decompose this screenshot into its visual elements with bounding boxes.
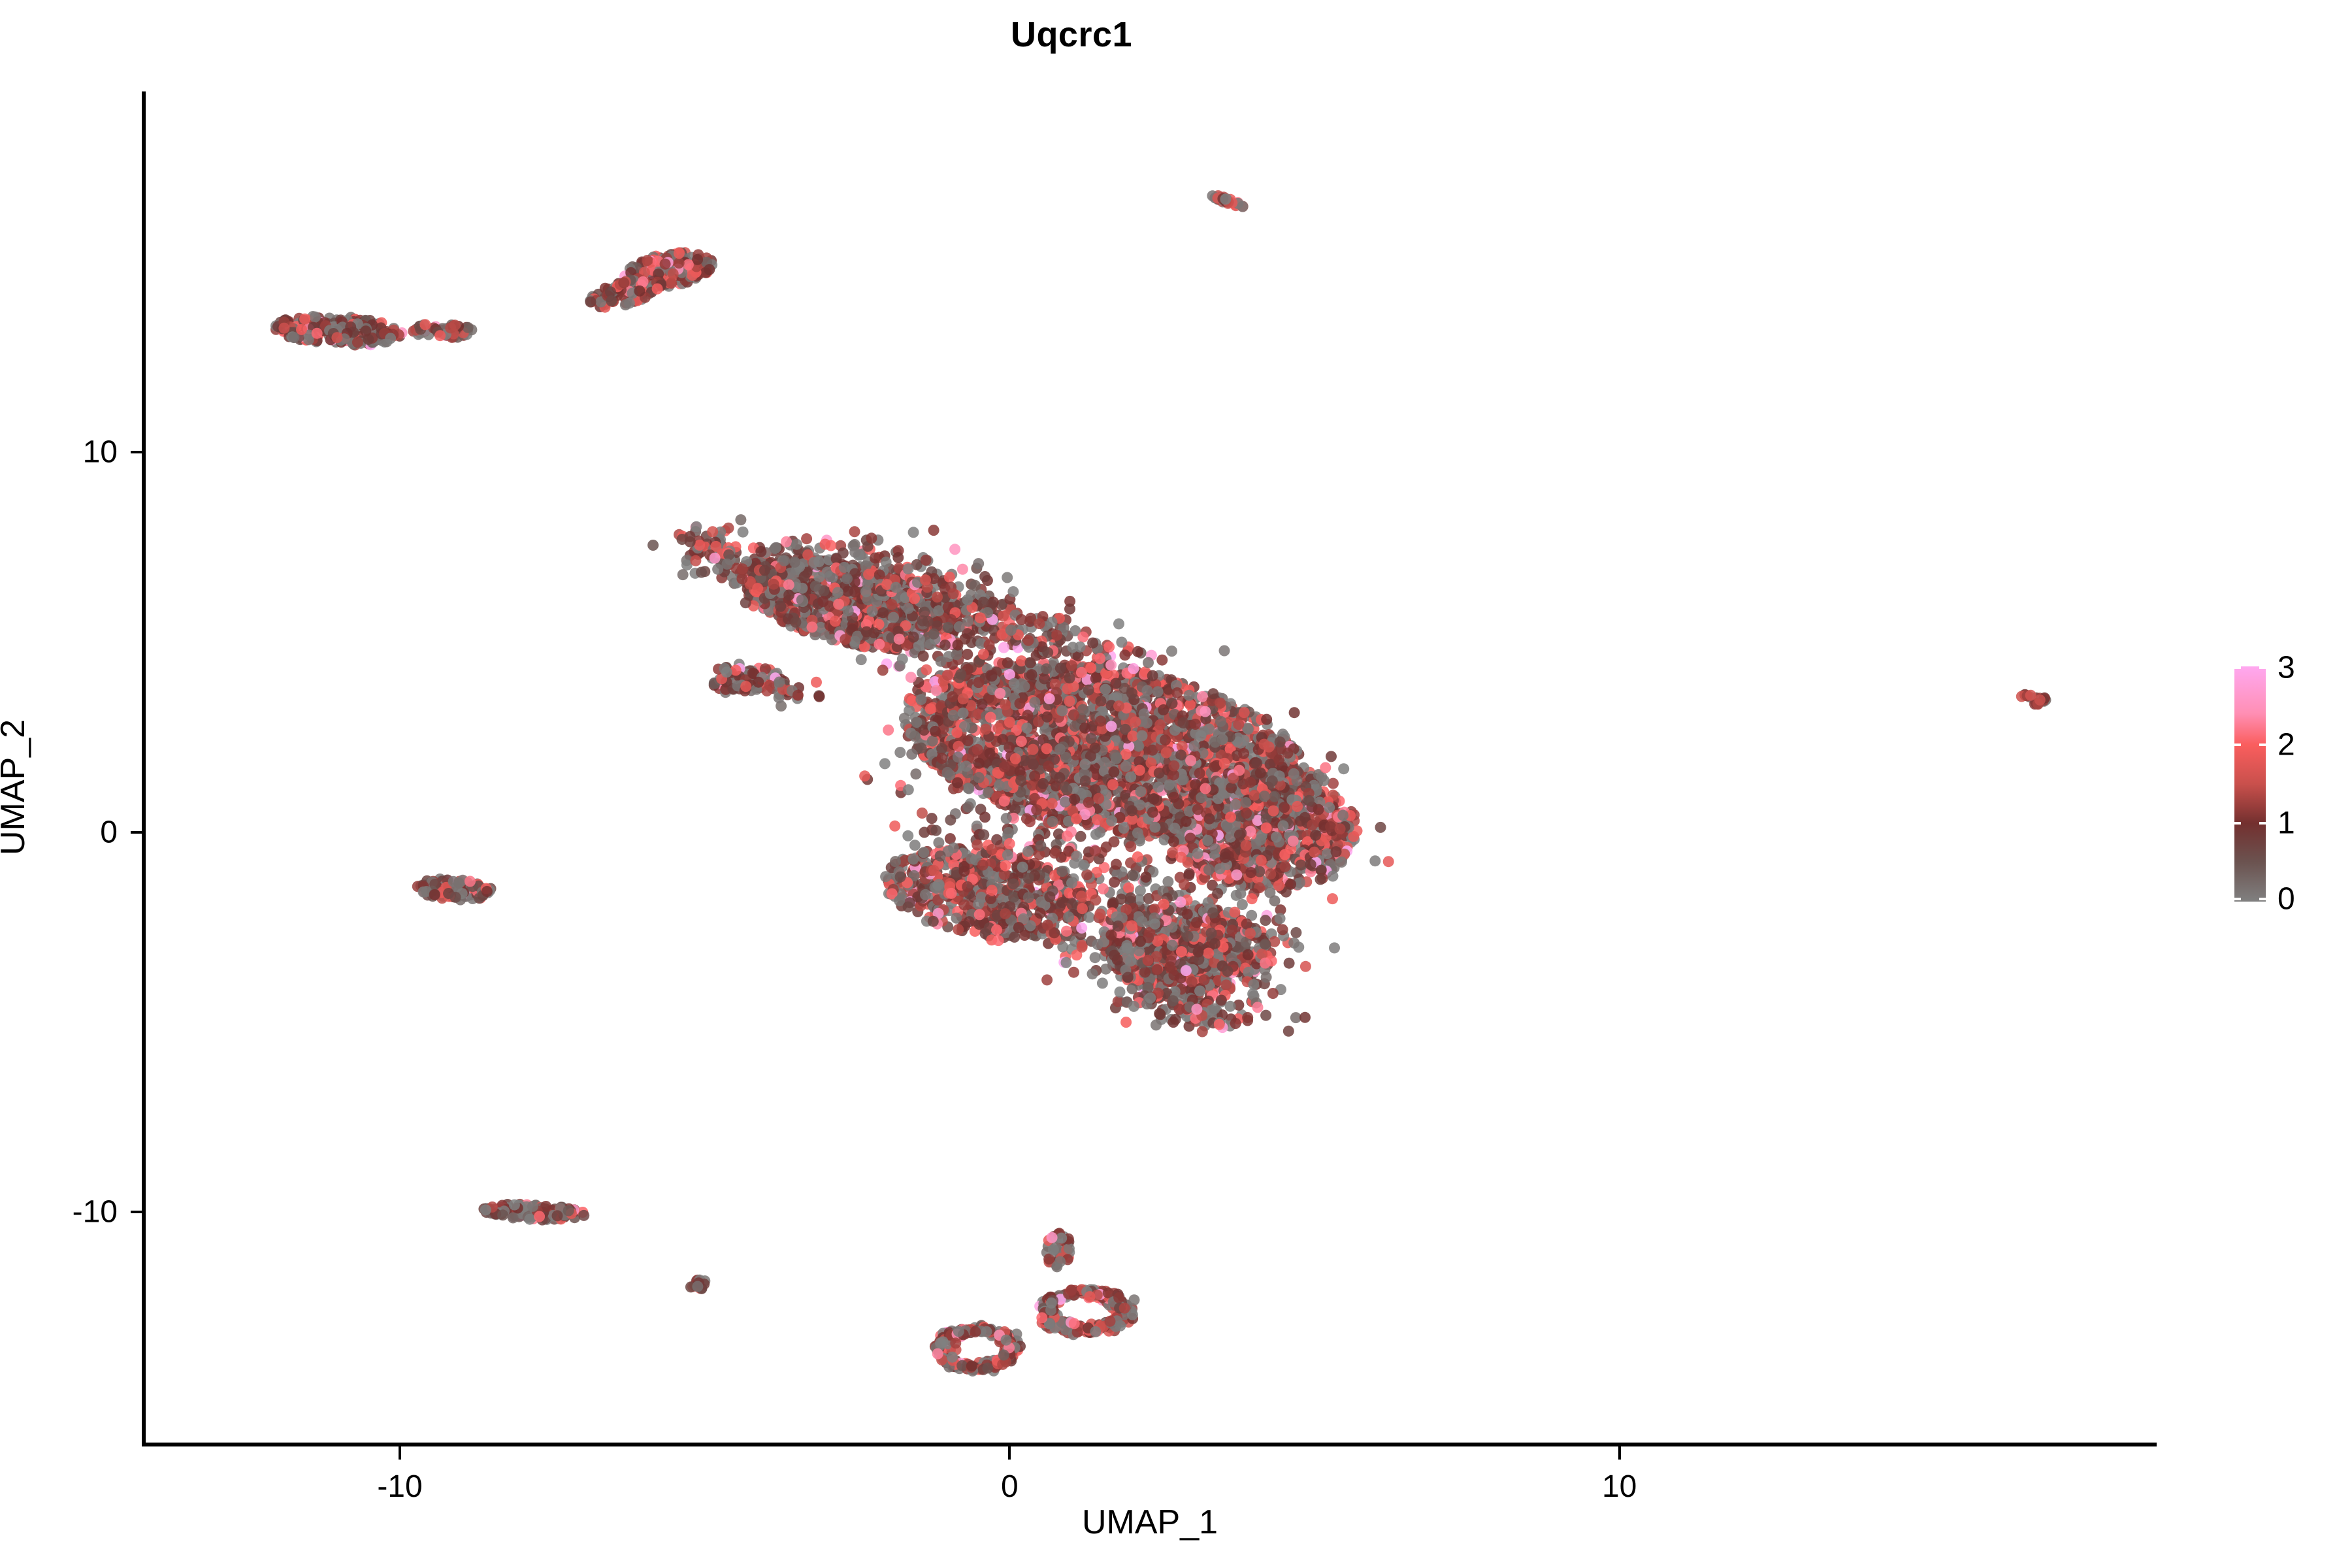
scatter-points-layer xyxy=(144,91,2156,1444)
scatter-point xyxy=(985,712,996,723)
scatter-point xyxy=(634,286,645,297)
scatter-point xyxy=(1125,772,1136,783)
scatter-point xyxy=(312,328,323,339)
scatter-point xyxy=(916,743,927,754)
scatter-point xyxy=(704,264,715,275)
scatter-point xyxy=(278,323,289,334)
scatter-point xyxy=(642,255,653,266)
scatter-point xyxy=(360,325,371,336)
scatter-point xyxy=(1027,744,1038,755)
scatter-point xyxy=(352,336,363,348)
scatter-point xyxy=(683,259,694,270)
scatter-point xyxy=(1243,967,1254,978)
scatter-point xyxy=(1171,687,1183,698)
scatter-point xyxy=(807,621,818,632)
scatter-point xyxy=(449,319,461,331)
scatter-point xyxy=(1237,201,1249,212)
scatter-point xyxy=(660,259,671,270)
page-title: Uqcrc1 xyxy=(0,14,2143,55)
scatter-point xyxy=(620,299,631,310)
scatter-point xyxy=(1197,691,1208,702)
scatter-point xyxy=(936,743,947,754)
scatter-point xyxy=(1220,193,1231,204)
scatter-point xyxy=(296,324,307,335)
scatter-point xyxy=(674,248,685,259)
scatter-point xyxy=(419,319,431,330)
scatter-point xyxy=(606,295,617,306)
scatter-point xyxy=(790,617,801,628)
scatter-point xyxy=(385,333,396,344)
scatter-point xyxy=(1239,707,1250,718)
plot-panel xyxy=(144,91,2156,1444)
scatter-point xyxy=(652,284,663,295)
scatter-point xyxy=(1184,699,1196,710)
scatter-point xyxy=(674,257,685,269)
umap-feature-plot: Uqcrc1 -10010-10010 UMAP_1 UMAP_2 3210 xyxy=(0,0,2352,1568)
scatter-point xyxy=(909,731,921,742)
scatter-point xyxy=(915,694,926,705)
scatter-point xyxy=(666,278,677,289)
scatter-point xyxy=(1190,719,1201,730)
scatter-point xyxy=(830,615,841,627)
scatter-point xyxy=(775,601,786,612)
scatter-point xyxy=(877,607,889,618)
scatter-point xyxy=(585,297,596,308)
scatter-point xyxy=(618,277,629,288)
scatter-point xyxy=(1243,949,1254,960)
scatter-point xyxy=(668,269,679,280)
scatter-point xyxy=(1215,698,1226,709)
scatter-point xyxy=(1010,753,1021,764)
scatter-point xyxy=(434,330,446,341)
scatter-point xyxy=(899,713,910,724)
scatter-point xyxy=(840,634,851,645)
scatter-point xyxy=(953,741,964,752)
scatter-point xyxy=(1095,696,1106,707)
scatter-point xyxy=(310,312,321,323)
scatter-point xyxy=(927,736,938,747)
scatter-point xyxy=(331,332,342,343)
scatter-point xyxy=(299,314,310,325)
scatter-point xyxy=(463,322,474,333)
